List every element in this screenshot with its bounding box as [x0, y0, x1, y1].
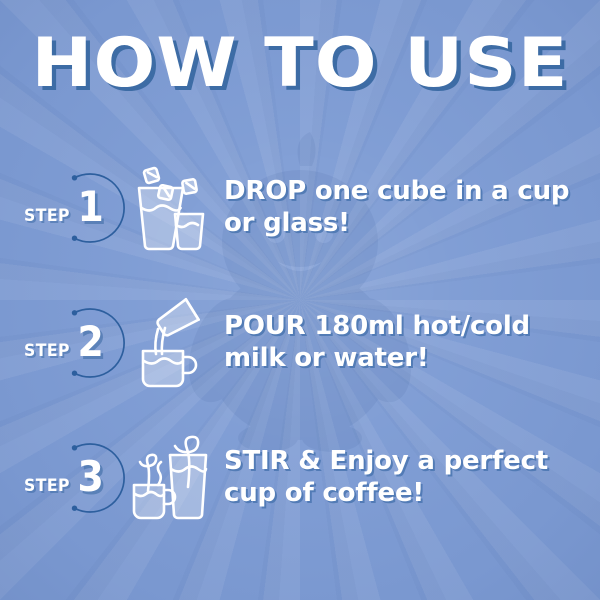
step-text: DROP one cube in a cup or glass! — [216, 176, 600, 239]
step-text: POUR 180ml hot/cold milk or water! — [216, 311, 600, 374]
glasses-with-ice-cubes-icon — [120, 156, 216, 260]
steps-list: STEP 1 — [0, 140, 600, 545]
step-text-line-2: milk or water! — [224, 343, 576, 375]
pouring-milk-into-mug-icon — [120, 291, 216, 395]
step-text: STIR & Enjoy a perfect cup of coffee! — [216, 446, 600, 509]
step-text-line-1: STIR & Enjoy a perfect — [224, 446, 548, 476]
badge-word: STEP — [24, 341, 70, 361]
badge-number: 3 — [78, 459, 104, 495]
badge-number: 2 — [78, 324, 104, 360]
page-title: HOW TO USE — [0, 30, 600, 98]
step-text-line-1: DROP one cube in a cup — [224, 176, 569, 206]
step-badge-1: STEP 1 — [0, 153, 120, 263]
step-badge-2: STEP 2 — [0, 288, 120, 398]
step-text-line-2: cup of coffee! — [224, 478, 576, 510]
badge-word: STEP — [24, 476, 70, 496]
step-badge-3: STEP 3 — [0, 423, 120, 533]
badge-number: 1 — [78, 189, 104, 225]
step-row: STEP 2 — [0, 275, 600, 410]
step-row: STEP 3 — [0, 410, 600, 545]
step-row: STEP 1 — [0, 140, 600, 275]
step-text-line-1: POUR 180ml hot/cold — [224, 311, 530, 341]
step-text-line-2: or glass! — [224, 208, 576, 240]
badge-word: STEP — [24, 206, 70, 226]
how-to-use-poster: HOW TO USE STEP 1 — [0, 0, 600, 600]
stirring-drinks-icon — [120, 426, 216, 530]
